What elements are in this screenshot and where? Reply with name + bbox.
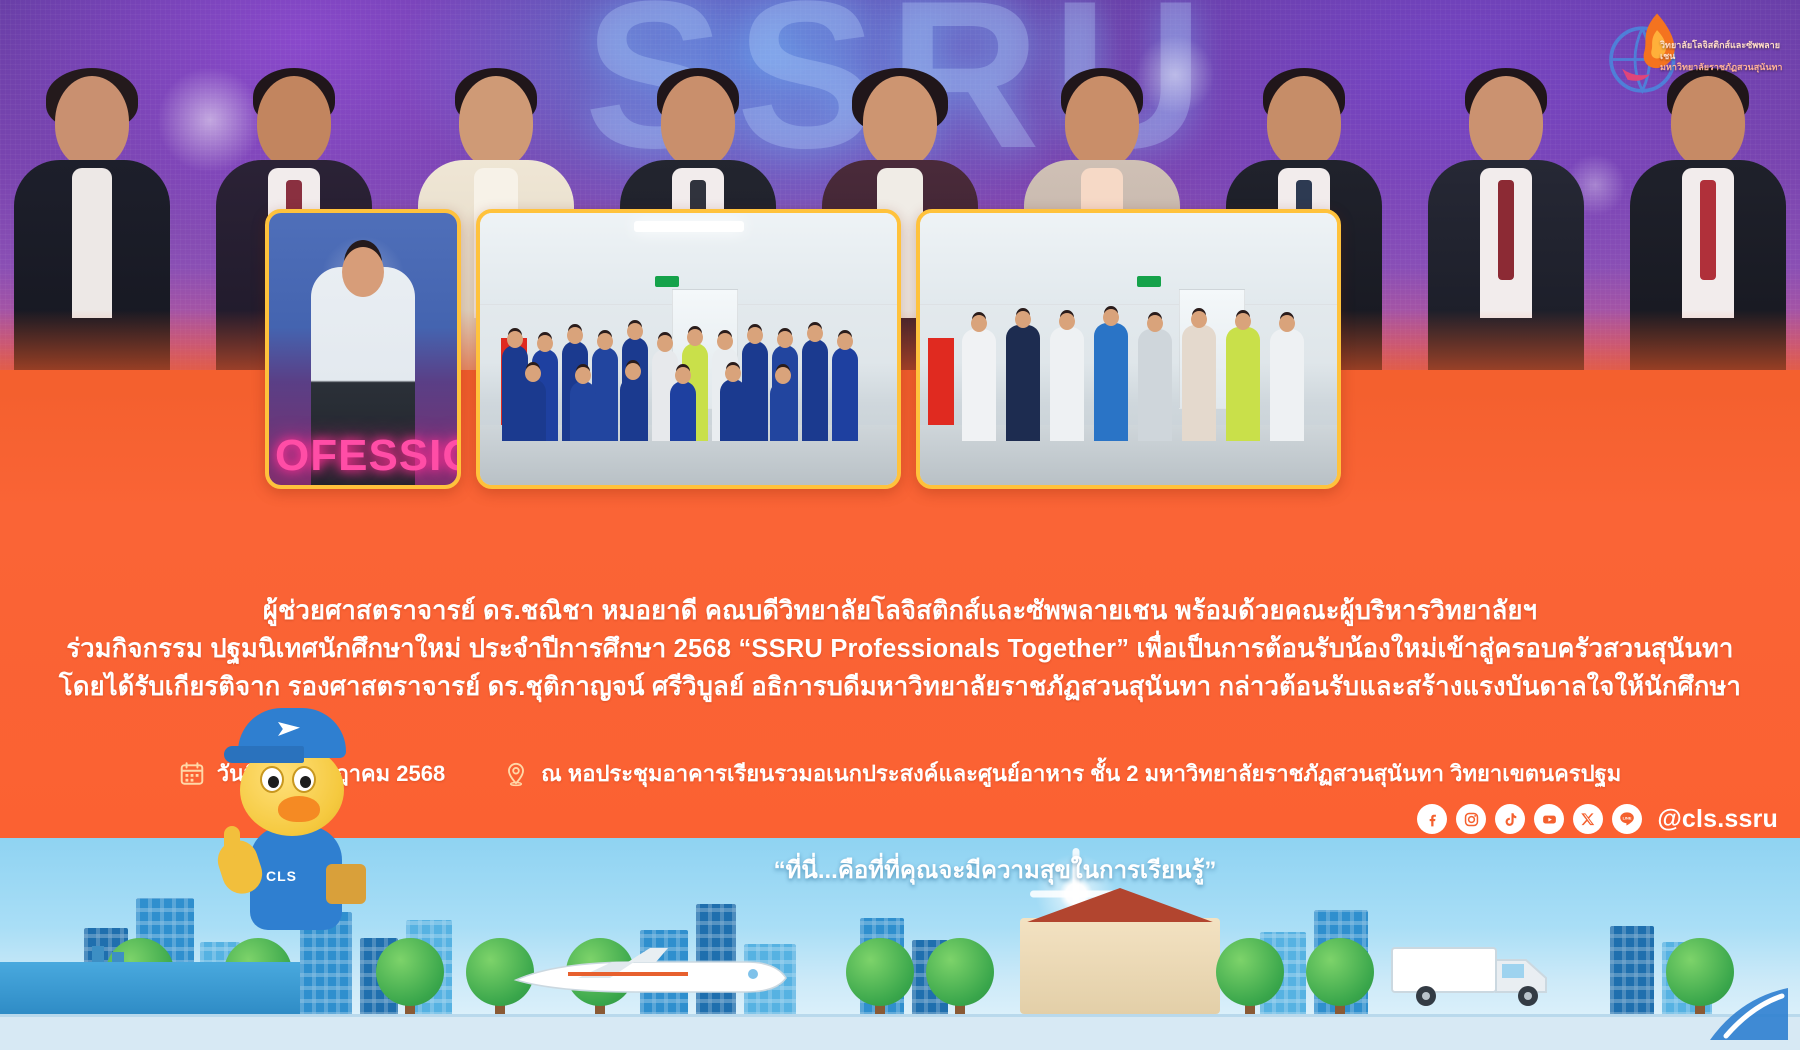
- exit-sign-icon: [655, 276, 679, 287]
- exit-sign-icon: [1137, 276, 1161, 287]
- caption-line-2: ร่วมกิจกรรม ปฐมนิเทศนักศึกษาใหม่ ประจำปี…: [0, 630, 1800, 668]
- event-caption: ผู้ช่วยศาสตราจารย์ ดร.ชณิชา หมอยาดี คณบด…: [0, 592, 1800, 706]
- social-links-row: LINE @cls.ssru: [1417, 804, 1778, 834]
- mascot-label: CLS: [266, 868, 297, 884]
- event-location-text: ณ หอประชุมอาคารเรียนรวมอเนกประสงค์และศูน…: [541, 756, 1621, 791]
- crowd-executives: [920, 295, 1337, 442]
- instagram-icon[interactable]: [1456, 804, 1486, 834]
- logo-text-block: วิทยาลัยโลจิสติกส์และซัพพลายเชน มหาวิทยา…: [1660, 40, 1790, 73]
- facebook-icon[interactable]: [1417, 804, 1447, 834]
- photo-gallery: OFESSIO หญิงในชุดเครื่องแบบถือไมโครโฟนบน…: [265, 209, 1350, 489]
- water-strip: [0, 962, 300, 1014]
- crowd-students: [480, 295, 897, 442]
- cls-ssru-logo: วิทยาลัยโลจิสติกส์และซัพพลายเชน มหาวิทยา…: [1600, 6, 1790, 102]
- mascot-bag-icon: [326, 864, 366, 904]
- road-strip: [0, 1014, 1800, 1050]
- logo-line-1: วิทยาลัยโลจิสติกส์และซัพพลายเชน: [1660, 40, 1790, 62]
- truck-icon: [1390, 936, 1570, 1010]
- social-handle[interactable]: @cls.ssru: [1657, 805, 1778, 834]
- tiktok-icon[interactable]: [1495, 804, 1525, 834]
- x-twitter-icon[interactable]: [1573, 804, 1603, 834]
- svg-text:LINE: LINE: [1623, 815, 1632, 820]
- ssru-building-icon: [1020, 918, 1220, 1014]
- map-pin-icon: [503, 760, 529, 788]
- youtube-icon[interactable]: [1534, 804, 1564, 834]
- event-poster: SSRU: [0, 0, 1800, 1050]
- photo-speaker[interactable]: OFESSIO หญิงในชุดเครื่องแบบถือไมโครโฟนบน…: [265, 209, 461, 489]
- line-icon[interactable]: LINE: [1612, 804, 1642, 834]
- logo-line-2: มหาวิทยาลัยราชภัฏสวนสุนันทา: [1660, 62, 1790, 73]
- cls-duck-mascot: CLS: [216, 700, 376, 930]
- airplane-icon: [508, 946, 808, 998]
- photo-executives-group[interactable]: คณะผู้บริหารถ่ายภาพหมู่ในอาคารเรียน: [916, 209, 1341, 489]
- caption-line-1: ผู้ช่วยศาสตราจารย์ ดร.ชณิชา หมอยาดี คณบด…: [0, 592, 1800, 630]
- calendar-icon: [179, 760, 205, 788]
- cls-corner-logo-icon: [1700, 974, 1796, 1048]
- event-location-group: ณ หอประชุมอาคารเรียนรวมอเนกประสงค์และศูน…: [503, 756, 1621, 791]
- photo-speaker-neon-text: OFESSIO: [275, 431, 461, 481]
- photo-students-group[interactable]: นักศึกษาใหม่ถ่ายภาพหมู่ในอาคารเรียน: [476, 209, 901, 489]
